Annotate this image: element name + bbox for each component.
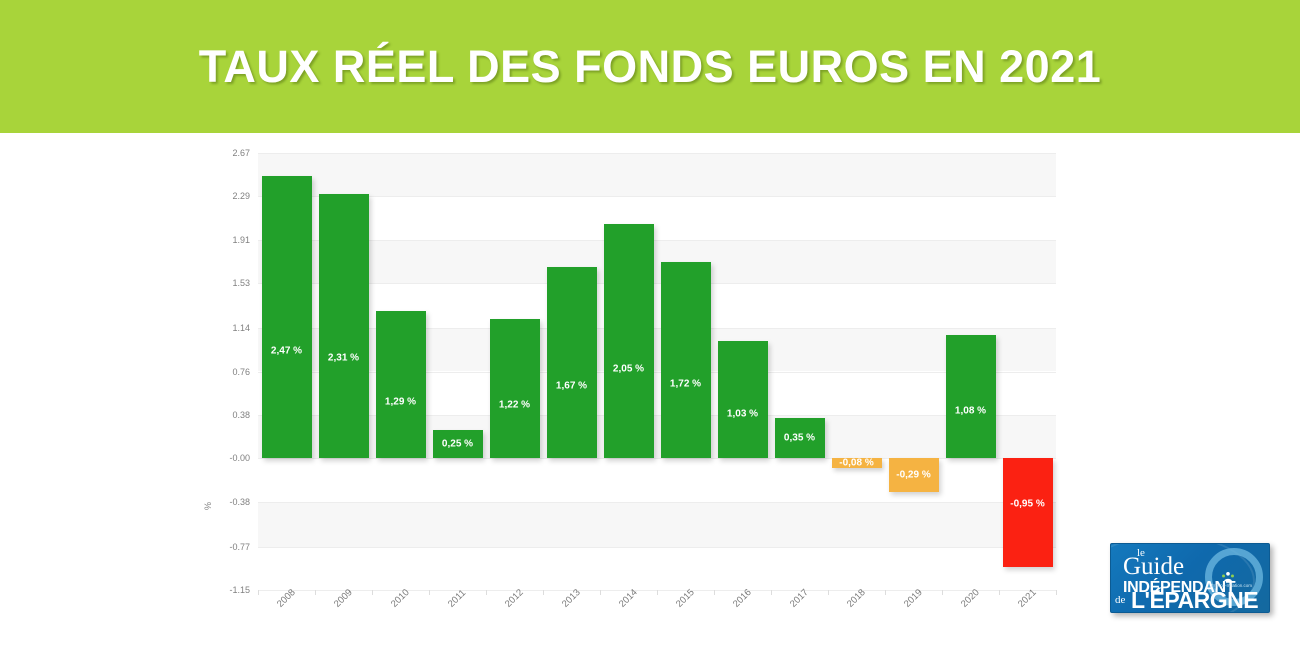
y-axis-tick-label: -0.00 [229,453,250,463]
x-axis-tick-label-2013: 2013 [560,587,583,610]
x-axis-tick-mark [372,590,373,595]
bar-2009[interactable] [319,194,369,458]
bar-value-label: 2,05 % [613,364,644,375]
logo-text-de: de [1115,594,1125,606]
bar-value-label: -0,95 % [1010,499,1044,510]
bar-value-label: 2,31 % [328,353,359,364]
y-axis-tick-label: 2.67 [232,148,250,158]
x-axis-tick-label-2011: 2011 [446,588,468,610]
gridline [258,502,1056,503]
bar-value-label: 1,08 % [955,406,986,417]
x-axis-tick-label-2018: 2018 [845,587,868,610]
bar-value-label: 1,03 % [727,408,758,419]
x-axis-tick-mark [258,590,259,595]
bar-2016[interactable] [718,341,768,459]
bar-value-label: -0,08 % [839,458,873,469]
logo-url-text: France-Inflation.com [1211,583,1252,588]
bar-2008[interactable] [262,176,312,459]
bar-value-label: 1,67 % [556,380,587,391]
y-axis-tick-label: -0.77 [229,542,250,552]
x-axis-tick-label-2017: 2017 [788,587,811,610]
gridline [258,240,1056,241]
logo-text-epargne: L'ÉPARGNE [1131,589,1258,612]
x-axis-tick-mark [714,590,715,595]
x-axis-tick-label-2012: 2012 [503,587,526,610]
bar-2021[interactable] [1003,458,1053,567]
x-axis: 2008200920102011201220132014201520162017… [258,590,1056,650]
header-banner: TAUX RÉEL DES FONDS EUROS EN 2021 [0,0,1300,133]
x-axis-tick-label-2021: 2021 [1016,587,1039,610]
gridline [258,153,1056,154]
y-axis: 2.672.291.911.531.140.760.38-0.00-0.38-0… [200,153,254,590]
x-axis-tick-label-2014: 2014 [617,587,640,610]
bar-value-label: 1,22 % [499,400,530,411]
x-axis-tick-label-2020: 2020 [959,587,982,610]
bar-value-label: 0,25 % [442,439,473,450]
plot-band [258,240,1056,283]
y-axis-tick-label: 1.14 [232,323,250,333]
y-axis-tick-label: 0.76 [232,367,250,377]
y-axis-tick-label: 1.53 [232,278,250,288]
x-axis-tick-mark [315,590,316,595]
plot-area: 2,47 %2,31 %1,29 %0,25 %1,22 %1,67 %2,05… [258,153,1056,590]
bar-value-label: 1,29 % [385,397,416,408]
x-axis-tick-label-2019: 2019 [902,587,925,610]
x-axis-tick-mark [828,590,829,595]
logo-guide-independant-epargne[interactable]: le Guide INDÉPENDANT de L'ÉPARGNE France… [1110,543,1270,613]
page-title: TAUX RÉEL DES FONDS EUROS EN 2021 [199,41,1102,93]
x-axis-tick-mark [543,590,544,595]
x-axis-tick-label-2008: 2008 [275,587,298,610]
bar-value-label: -0,29 % [896,470,930,481]
y-axis-tick-label: 0.38 [232,410,250,420]
x-axis-tick-mark [657,590,658,595]
x-axis-tick-label-2010: 2010 [389,587,412,610]
gridline [258,283,1056,284]
logo-text-guide: Guide [1123,554,1184,579]
chart-container: % 2.672.291.911.531.140.760.38-0.00-0.38… [0,133,1300,650]
x-axis-tick-mark [1056,590,1057,595]
x-axis-tick-mark [600,590,601,595]
x-axis-tick-label-2016: 2016 [731,587,754,610]
plot-band [258,153,1056,196]
x-axis-tick-mark [942,590,943,595]
bar-2015[interactable] [661,262,711,459]
bar-2013[interactable] [547,267,597,458]
bar-2012[interactable] [490,319,540,459]
bar-2020[interactable] [946,335,996,459]
x-axis-tick-mark [885,590,886,595]
y-axis-tick-label: -0.38 [229,497,250,507]
bar-value-label: 1,72 % [670,378,701,389]
bar-2014[interactable] [604,224,654,459]
y-axis-tick-label: 1.91 [232,235,250,245]
y-axis-tick-label: 2.29 [232,191,250,201]
x-axis-tick-mark [486,590,487,595]
gridline [258,547,1056,548]
x-axis-tick-label-2009: 2009 [332,587,355,610]
bar-value-label: 2,47 % [271,346,302,357]
people-icon [1221,571,1235,583]
x-axis-tick-mark [999,590,1000,595]
x-axis-tick-label-2015: 2015 [674,587,697,610]
bar-value-label: 0,35 % [784,433,815,444]
x-axis-tick-mark [771,590,772,595]
gridline [258,196,1056,197]
bar-2010[interactable] [376,311,426,459]
x-axis-tick-mark [429,590,430,595]
plot-band [258,502,1056,547]
y-axis-tick-label: -1.15 [229,585,250,595]
